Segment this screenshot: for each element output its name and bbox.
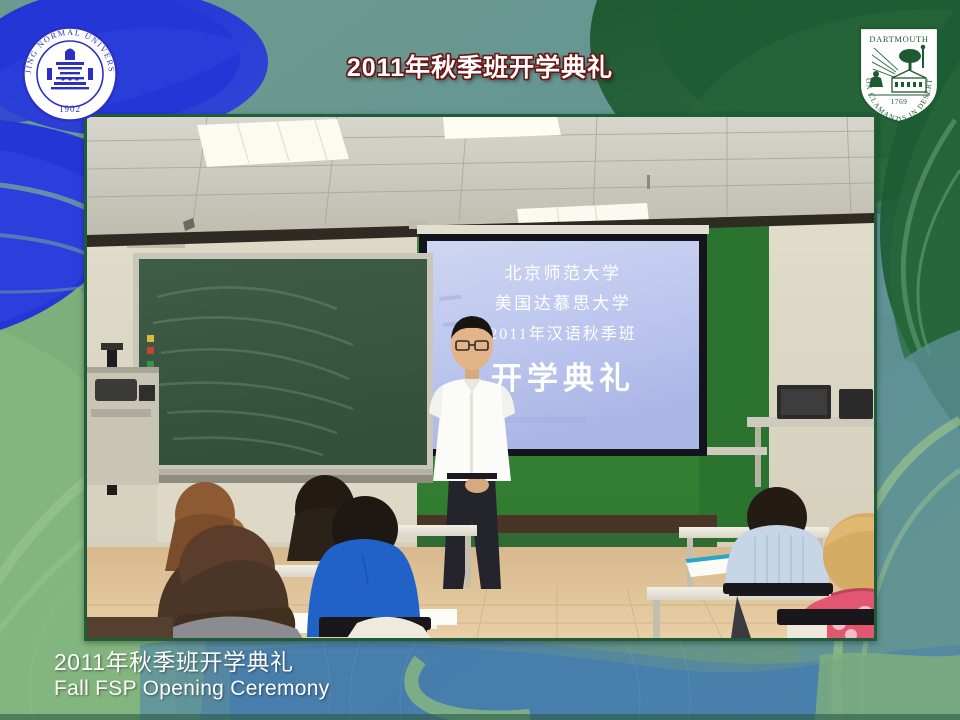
- caption-chinese: 2011年秋季班开学典礼: [54, 648, 330, 676]
- screen-line-3: 2011年汉语秋季班: [489, 325, 636, 343]
- dartmouth-college-logo: DARTMOUTH: [852, 22, 946, 126]
- screen-line-4: 开学典礼: [491, 361, 635, 396]
- beijing-normal-university-logo: BEIJING NORMAL UNIVERSITY 1902: [18, 22, 122, 126]
- screen-line-2: 美国达慕思大学: [495, 294, 632, 313]
- dartmouth-shield-icon: DARTMOUTH: [852, 22, 946, 126]
- classroom-photo-illustration: 北京师范大学 美国达慕思大学 2011年汉语秋季班 开学典礼: [87, 117, 874, 638]
- ceremony-photo: 北京师范大学 美国达慕思大学 2011年汉语秋季班 开学典礼: [84, 114, 877, 641]
- dartmouth-year: 1769: [891, 97, 908, 106]
- bnu-year: 1902: [59, 104, 81, 114]
- caption-english: Fall FSP Opening Ceremony: [54, 676, 330, 702]
- screen-line-1: 北京师范大学: [505, 264, 622, 283]
- presentation-slide: BEIJING NORMAL UNIVERSITY 1902 DARTMOUTH: [0, 0, 960, 720]
- dartmouth-name: DARTMOUTH: [869, 34, 928, 44]
- slide-caption: 2011年秋季班开学典礼 Fall FSP Opening Ceremony: [54, 648, 330, 702]
- bnu-seal-icon: BEIJING NORMAL UNIVERSITY 1902: [18, 22, 122, 126]
